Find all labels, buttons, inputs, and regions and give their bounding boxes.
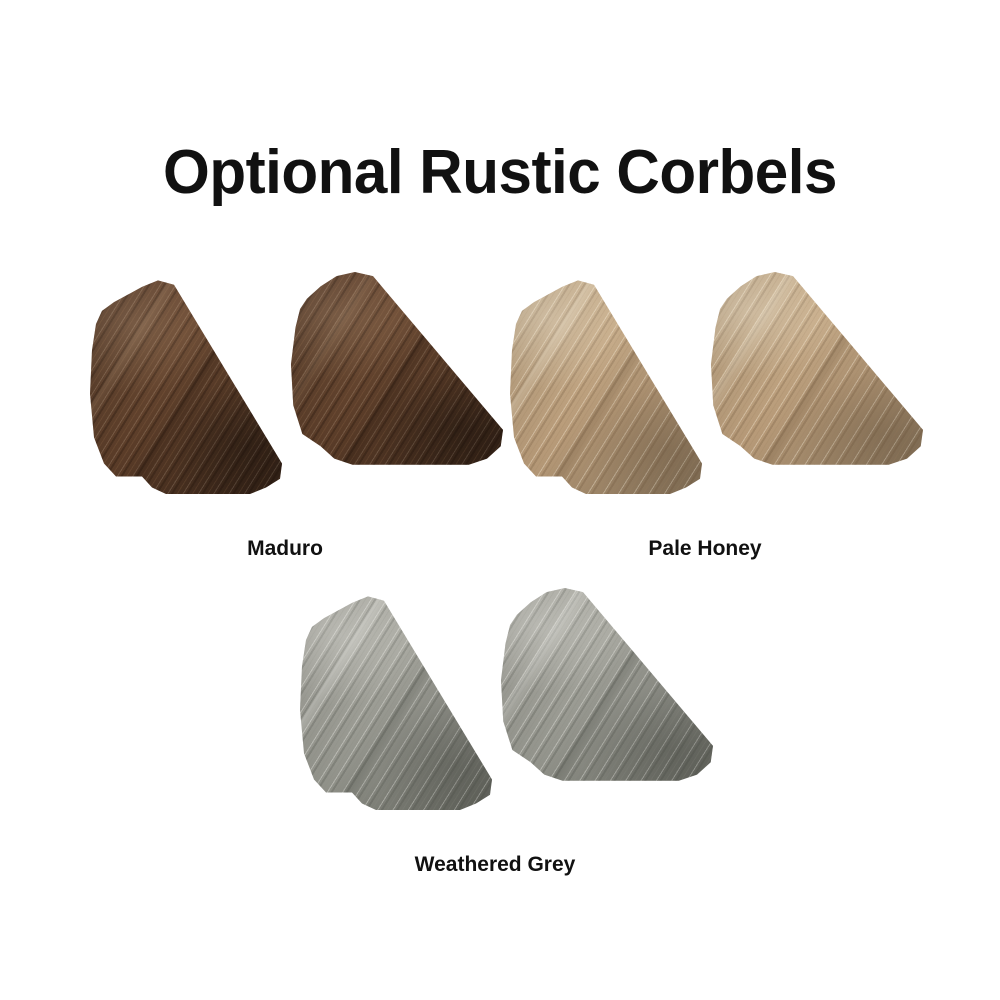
corbel-facets [695,270,923,475]
swatch-group-maduro[interactable]: Maduro [70,262,500,562]
corbel-facets [292,592,492,810]
page-title: Optional Rustic Corbels [15,138,985,208]
swatch-label-maduro: Maduro [70,536,500,562]
corbel-facets [82,276,282,494]
corbel-right [275,270,503,475]
swatch-group-pale-honey[interactable]: Pale Honey [490,262,920,562]
corbel-pair [490,262,920,512]
swatch-label-weathered-grey: Weathered Grey [280,852,710,878]
corbel-left [292,592,492,810]
product-color-chart: Optional Rustic Corbels Maduro [0,0,1000,1000]
corbel-left [502,276,702,494]
swatch-label-pale-honey: Pale Honey [490,536,920,562]
corbel-facets [485,586,713,791]
corbel-left [82,276,282,494]
corbel-pair [70,262,500,512]
corbel-right [695,270,923,475]
corbel-right [485,586,713,791]
corbel-pair [280,578,710,828]
swatch-group-weathered-grey[interactable]: Weathered Grey [280,578,710,878]
corbel-facets [502,276,702,494]
corbel-facets [275,270,503,475]
